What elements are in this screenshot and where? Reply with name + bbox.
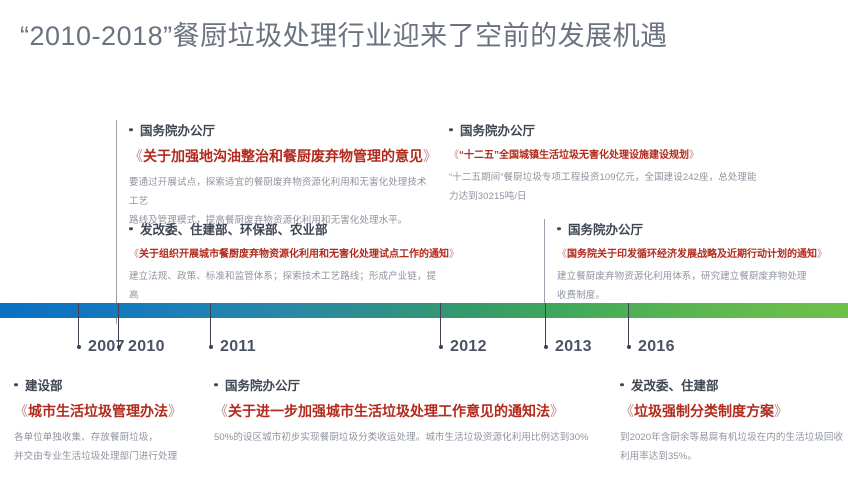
event-document-title: 关于组织开展城市餐厨废弃物资源化利用和无害化处理试点工作的通知 — [139, 249, 449, 260]
tick-line — [440, 303, 441, 347]
tick-year-label: 2011 — [220, 338, 256, 356]
event-block-2016: 发改委、住建部 《垃圾强制分类制度方案》 到2020年含厨余等易腐有机垃圾在内的… — [620, 375, 845, 466]
bracket-open-icon: 《 — [449, 150, 459, 161]
event-organization: 建设部 — [14, 375, 209, 394]
event-document-title: 关于加强地沟油整治和餐厨废弃物管理的意见 — [143, 148, 423, 164]
event-document: 《关于进一步加强城市生活垃圾处理工作意见的通知法》 — [214, 401, 614, 421]
tick-dot — [117, 345, 121, 349]
connector-rule-2013 — [544, 219, 545, 305]
event-document-title: 城市生活垃圾管理办法 — [28, 403, 168, 419]
bracket-open-icon: 《 — [214, 403, 228, 419]
event-description-line: 各单位单独收集、存放餐厨垃圾， — [14, 428, 209, 447]
tick-dot — [627, 345, 631, 349]
bracket-open-icon: 《 — [557, 249, 567, 260]
event-document: 《“十二五”全国城镇生活垃圾无害化处理设施建设规划》 — [449, 146, 779, 161]
event-description: 建立餐厨废弃物资源化利用体系，研究建立餐厨废弃物处理 收费制度。 — [557, 267, 847, 305]
bullet-icon — [620, 383, 624, 387]
event-document: 《垃圾强制分类制度方案》 — [620, 401, 845, 421]
event-description-line: 到2020年含厨余等易腐有机垃圾在内的生活垃圾回收 — [620, 428, 845, 447]
event-organization: 国务院办公厅 — [129, 120, 429, 139]
event-organization-label: 发改委、住建部 — [631, 379, 719, 393]
event-organization-label: 国务院办公厅 — [225, 379, 300, 393]
event-description: 各单位单独收集、存放餐厨垃圾， 并交由专业生活垃圾处理部门进行处理 — [14, 428, 209, 466]
connector-rule-2010 — [116, 120, 117, 305]
event-organization-label: 国务院办公厅 — [460, 124, 535, 138]
event-document: 《城市生活垃圾管理办法》 — [14, 401, 209, 421]
event-description-line: 力达到30215吨/日 — [449, 187, 779, 206]
event-description-line: 50%的设区城市初步实现餐厨垃圾分类收运处理。城市生活垃圾资源化利用比例达到30… — [214, 428, 614, 447]
bracket-open-icon: 《 — [129, 148, 143, 164]
tick-line — [210, 303, 211, 347]
event-block-2007: 建设部 《城市生活垃圾管理办法》 各单位单独收集、存放餐厨垃圾， 并交由专业生活… — [14, 375, 209, 466]
event-block-2013: 国务院办公厅 《国务院关于印发循环经济发展战略及近期行动计划的通知》 建立餐厨废… — [544, 219, 847, 305]
tick-line — [118, 303, 119, 347]
event-organization: 发改委、住建部、环保部、农业部 — [129, 219, 439, 238]
event-document-title: 关于进一步加强城市生活垃圾处理工作意见的通知法 — [228, 403, 550, 419]
tick-year-label: 2012 — [450, 338, 487, 356]
event-document-title: 垃圾强制分类制度方案 — [634, 403, 774, 419]
event-description-line: “十二五期间”餐厨垃圾专项工程投资109亿元，全国建设242座，总处理能 — [449, 168, 779, 187]
tick-line — [78, 303, 79, 347]
event-organization-label: 国务院办公厅 — [140, 124, 215, 138]
tick-line — [545, 303, 546, 347]
bracket-close-icon: 》 — [774, 403, 788, 419]
tick-line — [628, 303, 629, 347]
event-document: 《关于加强地沟油整治和餐厨废弃物管理的意见》 — [129, 146, 429, 166]
event-block-2011-bottom: 国务院办公厅 《关于进一步加强城市生活垃圾处理工作意见的通知法》 50%的设区城… — [214, 375, 614, 447]
event-organization: 发改委、住建部 — [620, 375, 845, 394]
bracket-close-icon: 》 — [550, 403, 564, 419]
tick-dot — [439, 345, 443, 349]
tick-dot — [209, 345, 213, 349]
bullet-icon — [449, 128, 453, 132]
bracket-open-icon: 《 — [129, 249, 139, 260]
bracket-close-icon: 》 — [423, 148, 437, 164]
tick-dot — [77, 345, 81, 349]
event-document-title: 国务院关于印发循环经济发展战略及近期行动计划的通知 — [567, 249, 817, 260]
event-organization-label: 国务院办公厅 — [568, 223, 643, 237]
event-organization-label: 建设部 — [25, 379, 63, 393]
bracket-open-icon: 《 — [14, 403, 28, 419]
bracket-open-icon: 《 — [620, 403, 634, 419]
event-block-2010: 国务院办公厅 《关于加强地沟油整治和餐厨废弃物管理的意见》 要通过开展试点，探索… — [116, 120, 429, 230]
tick-year-label: 2010 — [128, 338, 165, 356]
event-organization: 国务院办公厅 — [557, 219, 847, 238]
event-block-2012: 国务院办公厅 《“十二五”全国城镇生活垃圾无害化处理设施建设规划》 “十二五期间… — [449, 120, 779, 206]
bullet-icon — [14, 383, 18, 387]
tick-year-label: 2016 — [638, 338, 675, 356]
event-organization: 国务院办公厅 — [214, 375, 614, 394]
tick-dot — [544, 345, 548, 349]
timeline-gradient-bar — [0, 303, 848, 318]
bullet-icon — [214, 383, 218, 387]
bracket-close-icon: 》 — [168, 403, 182, 419]
bracket-close-icon: 》 — [449, 249, 459, 260]
event-description: 50%的设区城市初步实现餐厨垃圾分类收运处理。城市生活垃圾资源化利用比例达到30… — [214, 428, 614, 447]
event-organization: 国务院办公厅 — [449, 120, 779, 139]
event-description-line: 并交由专业生活垃圾处理部门进行处理 — [14, 447, 209, 466]
event-document-title: “十二五”全国城镇生活垃圾无害化处理设施建设规划 — [459, 150, 689, 161]
event-description-line: 建立法规、政策、标准和监管体系；探索技术工艺路线；形成产业链，提高 — [129, 267, 439, 305]
event-description-line: 建立餐厨废弃物资源化利用体系，研究建立餐厨废弃物处理 — [557, 267, 847, 286]
event-description-line: 利用率达到35%。 — [620, 447, 845, 466]
event-organization-label: 发改委、住建部、环保部、农业部 — [140, 223, 328, 237]
event-description: “十二五期间”餐厨垃圾专项工程投资109亿元，全国建设242座，总处理能 力达到… — [449, 168, 779, 206]
bullet-icon — [557, 227, 561, 231]
event-description: 到2020年含厨余等易腐有机垃圾在内的生活垃圾回收 利用率达到35%。 — [620, 428, 845, 466]
slide-canvas: “2010-2018”餐厨垃圾处理行业迎来了空前的发展机遇 国务院办公厅 《关于… — [0, 0, 848, 478]
bullet-icon — [129, 227, 133, 231]
bracket-close-icon: 》 — [689, 150, 699, 161]
event-description-line: 要通过开展试点，探索适宜的餐厨废弃物资源化利用和无害化处理技术工艺 — [129, 173, 429, 211]
tick-year-label: 2013 — [555, 338, 592, 356]
bracket-close-icon: 》 — [817, 249, 827, 260]
page-title: “2010-2018”餐厨垃圾处理行业迎来了空前的发展机遇 — [20, 14, 668, 53]
event-document: 《国务院关于印发循环经济发展战略及近期行动计划的通知》 — [557, 245, 847, 260]
bullet-icon — [129, 128, 133, 132]
event-document: 《关于组织开展城市餐厨废弃物资源化利用和无害化处理试点工作的通知》 — [129, 245, 439, 260]
